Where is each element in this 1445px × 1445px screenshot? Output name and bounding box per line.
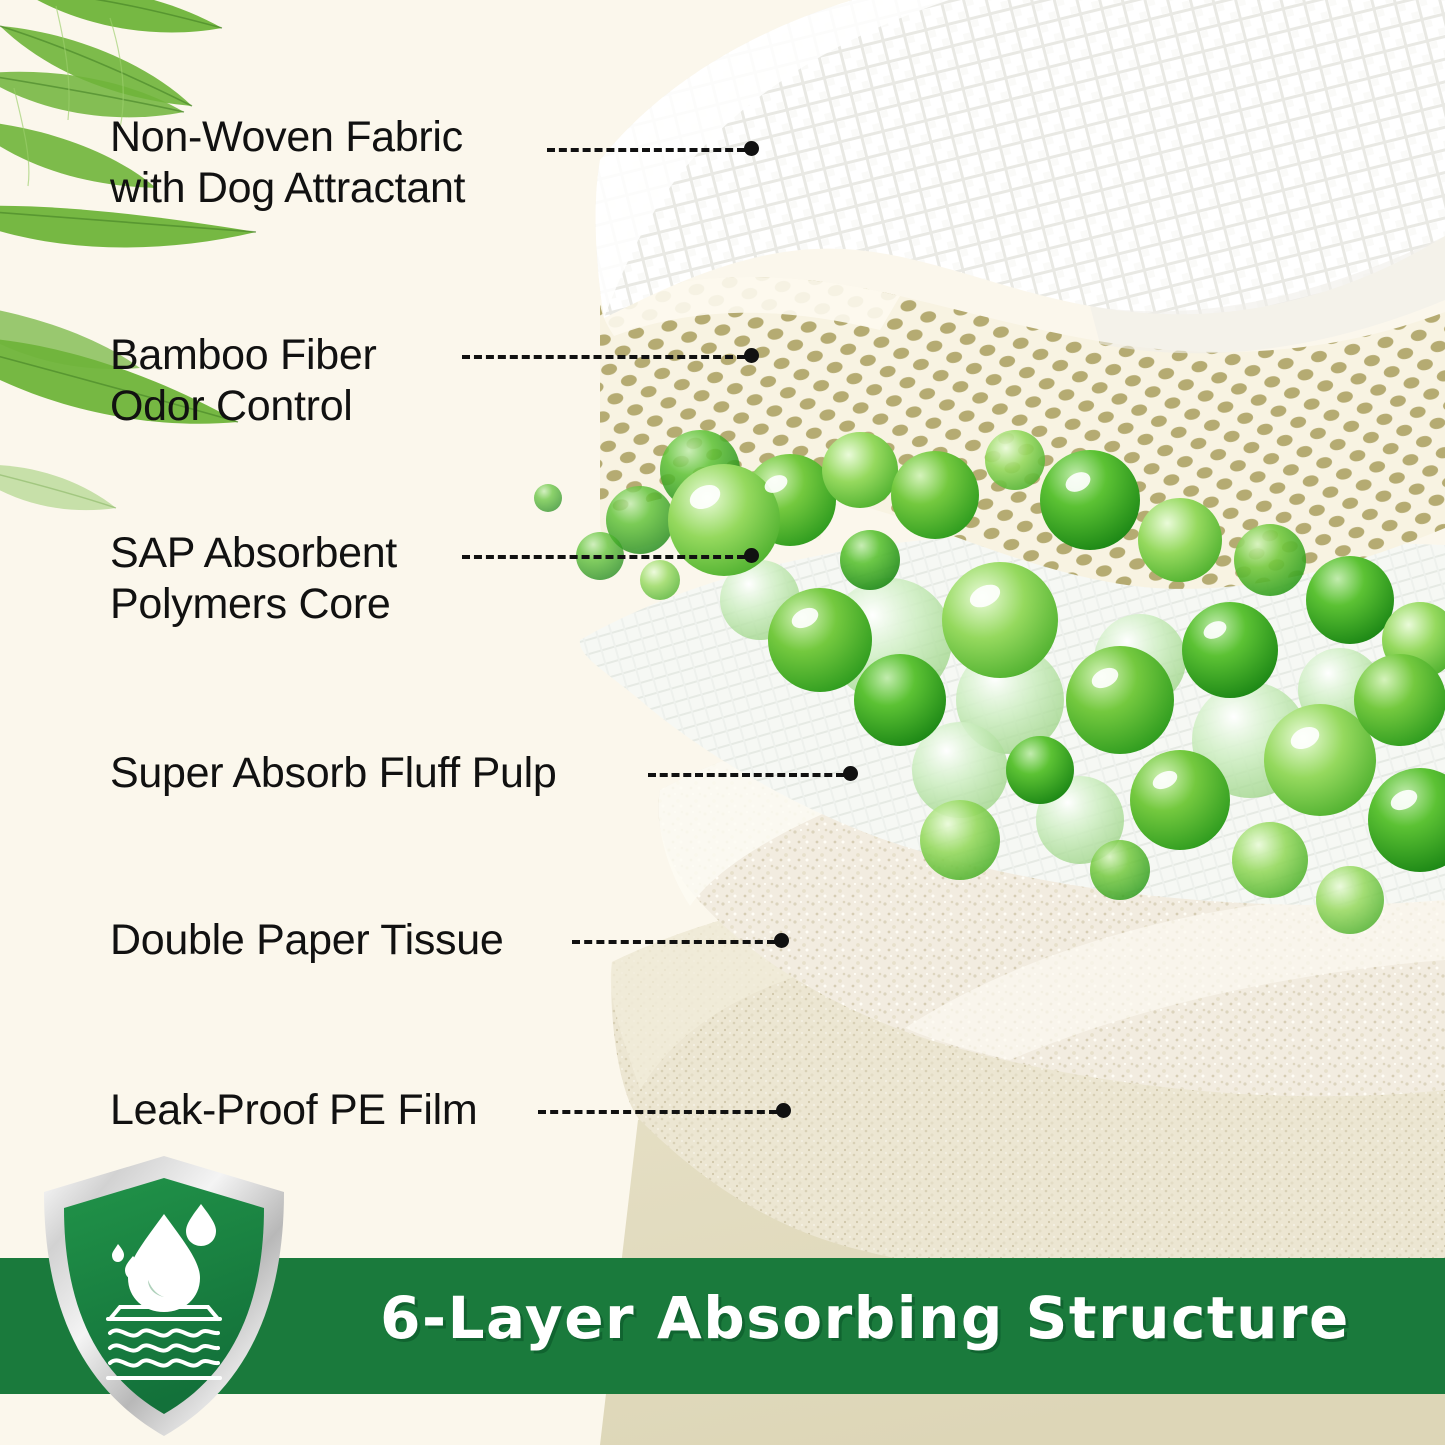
leader-line-non-woven-fabric (547, 148, 745, 152)
infographic-root: Non-Woven Fabric with Dog Attractant Bam… (0, 0, 1445, 1445)
label-paper-tissue: Double Paper Tissue (110, 915, 503, 966)
leader-line-pe-film (538, 1110, 777, 1114)
leader-line-sap-absorbent (462, 555, 745, 559)
label-bamboo-fiber: Bamboo Fiber Odor Control (110, 330, 376, 431)
label-non-woven-fabric: Non-Woven Fabric with Dog Attractant (110, 112, 465, 213)
leader-line-fluff-pulp (648, 773, 844, 777)
label-sap-absorbent: SAP Absorbent Polymers Core (110, 528, 397, 629)
banner-headline: 6-Layer Absorbing Structure (300, 1284, 1430, 1352)
label-fluff-pulp: Super Absorb Fluff Pulp (110, 748, 556, 799)
leader-line-paper-tissue (572, 940, 775, 944)
label-pe-film: Leak-Proof PE Film (110, 1085, 477, 1136)
leader-dot-pe-film (776, 1103, 791, 1118)
waterproof-shield-badge (38, 1152, 290, 1440)
leader-dot-non-woven-fabric (744, 141, 759, 156)
leader-dot-paper-tissue (774, 933, 789, 948)
leader-line-bamboo-fiber (462, 355, 745, 359)
leader-dot-fluff-pulp (843, 766, 858, 781)
leader-dot-bamboo-fiber (744, 348, 759, 363)
leader-dot-sap-absorbent (744, 548, 759, 563)
